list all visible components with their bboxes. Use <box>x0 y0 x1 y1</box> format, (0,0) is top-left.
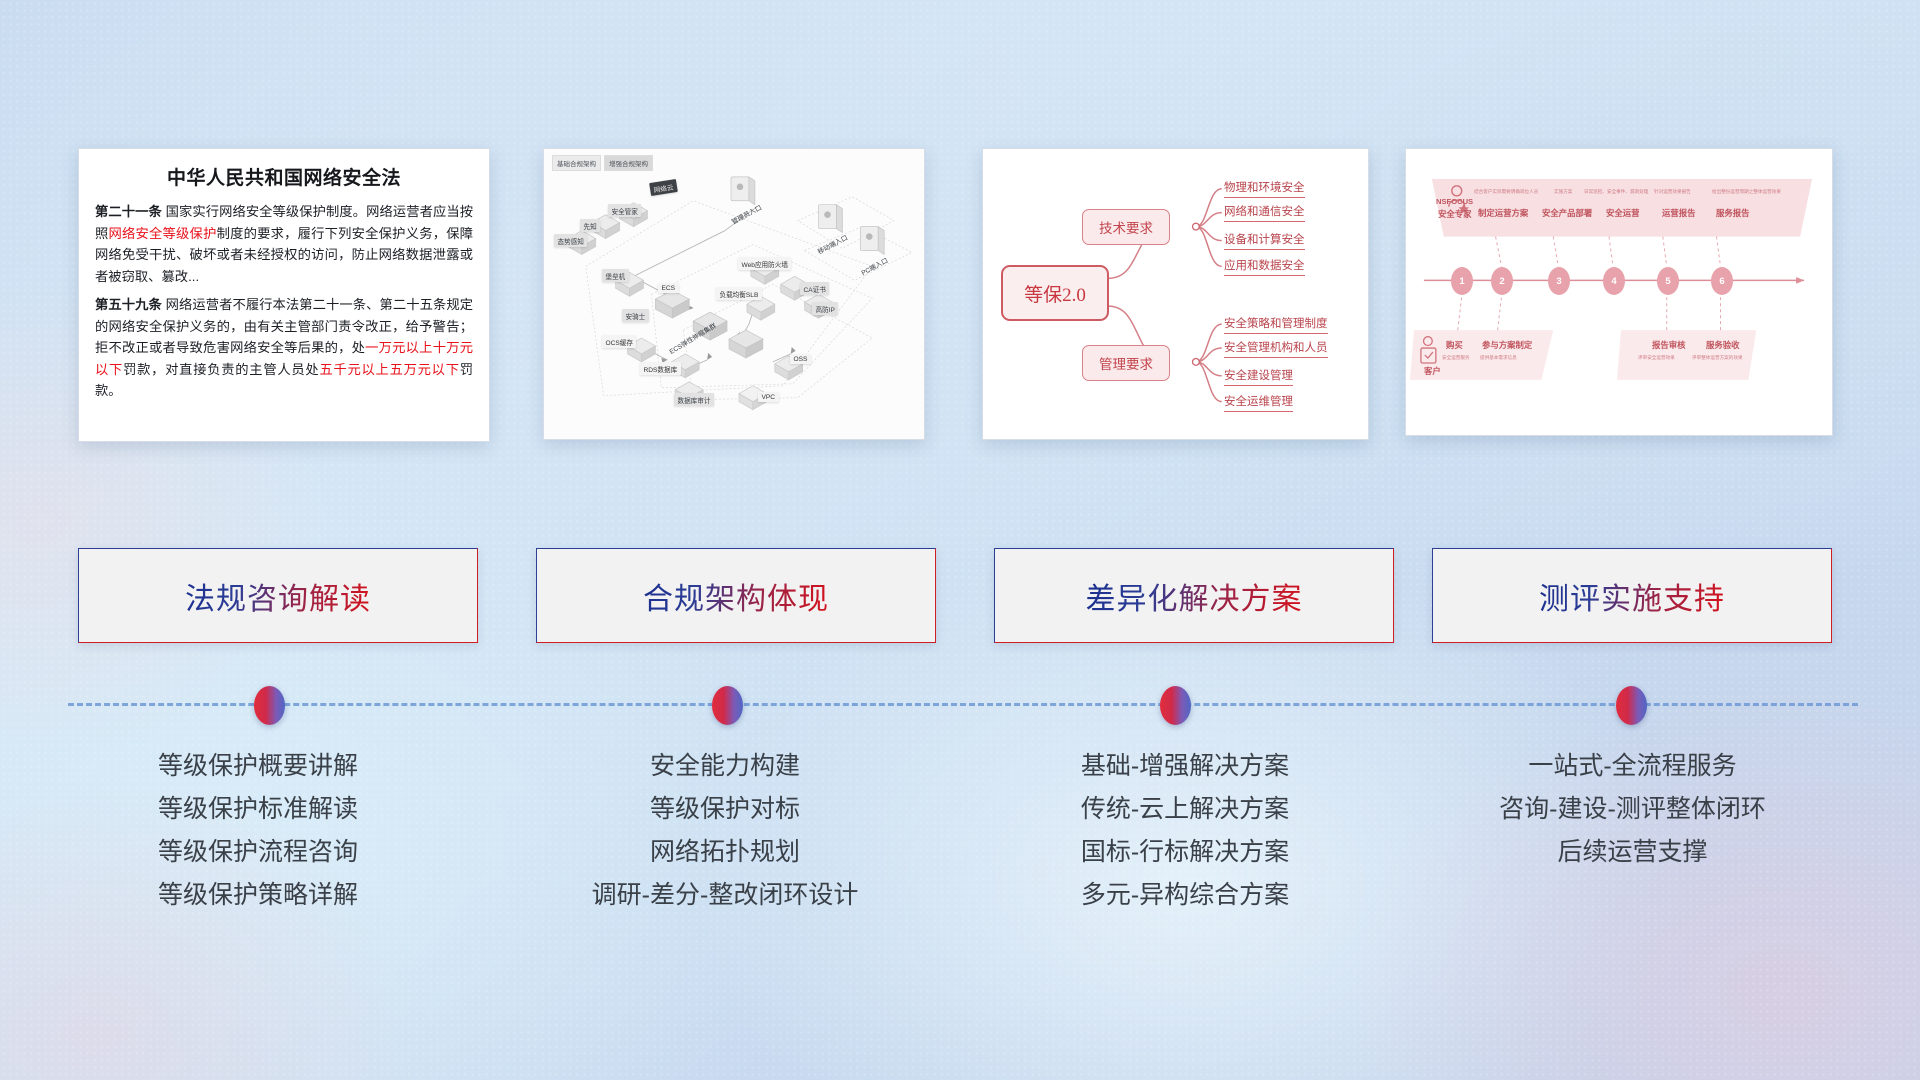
bottom-step-6-note: 评审整体运营方案的效果 <box>1692 355 1743 361</box>
top-step-5-note: 针对运营效果报告 <box>1654 189 1691 195</box>
law-fine-manager: 五千元以上五万元以下 <box>319 362 459 377</box>
list-item: 基础-增强解决方案 <box>980 745 1390 788</box>
bottom-step-2-note: 提供基本需求信息 <box>1480 355 1517 361</box>
timeline-step-number-6: 6 <box>1711 267 1733 295</box>
bottom-step-5-title: 报告审核 <box>1652 339 1686 351</box>
mindmap: 等保2.0 技术要求 管理要求 物理和环境安全 网络和通信安全 设备和计算安全 … <box>983 149 1368 439</box>
list-item: 等级保护策略详解 <box>68 874 448 917</box>
service-list-column-4: 一站式-全流程服务 咨询-建设-测评整体闭环 后续运营支撑 <box>1425 745 1840 874</box>
timeline-dot-1[interactable] <box>254 686 285 725</box>
arch-node-bastion-host: 堡垒机 <box>602 269 629 282</box>
timeline-dot-2[interactable] <box>712 686 743 725</box>
preview-cards-row: 中华人民共和国网络安全法 第二十一条 国家实行网络安全等级保护制度。网络运营者应… <box>0 148 1920 448</box>
list-item: 安全能力构建 <box>525 745 925 788</box>
bottom-step-1-title: 购买 <box>1446 339 1463 351</box>
arch-node-waf: Web应用防火墙 <box>738 257 791 270</box>
timeline-step-number-5: 5 <box>1657 267 1679 295</box>
timeline-dot-3[interactable] <box>1160 686 1191 725</box>
law-article-59-text-b: 罚款，对直接负责的主管人员处 <box>123 362 319 377</box>
law-article-21: 第二十一条 国家实行网络安全等级保护制度。网络运营者应当按照网络安全等级保护制度… <box>95 201 473 287</box>
arch-node-slb: 负载均衡SLB <box>716 287 762 300</box>
card-service-timeline[interactable]: NSFOCUS 安全专家 结合客户实际需要明确岗位人员 制定运营方案 实施方案 … <box>1405 148 1833 436</box>
timeline-dashed-line <box>68 703 1858 706</box>
arch-node-anti-ddos-ip: 高防IP <box>812 302 838 315</box>
law-article-21-highlight: 网络安全等级保护 <box>109 226 217 241</box>
mindmap-leaf-construction-mgmt: 安全建设管理 <box>1224 367 1293 386</box>
arch-node-ca-certificate: CA证书 <box>800 282 829 295</box>
header-assessment-support[interactable]: 测评实施支持 <box>1432 548 1832 643</box>
card-compliance-architecture[interactable]: 基础合规架构 增强合规架构 <box>543 148 925 440</box>
bottom-step-1-note: 安全运营服务 <box>1442 355 1470 361</box>
mindmap-leaf-org-personnel: 安全管理机构和人员 <box>1224 339 1328 358</box>
service-list-column-3: 基础-增强解决方案 传统-云上解决方案 国标-行标解决方案 多元-异构综合方案 <box>980 745 1390 917</box>
law-article-21-label: 第二十一条 <box>95 204 162 219</box>
timeline-dot-4[interactable] <box>1616 686 1647 725</box>
list-item: 网络拓扑规划 <box>525 831 925 874</box>
service-timeline: NSFOCUS 安全专家 结合客户实际需要明确岗位人员 制定运营方案 实施方案 … <box>1406 149 1832 435</box>
arch-node-anqishi: 安骑士 <box>622 309 649 322</box>
list-item: 后续运营支撑 <box>1425 831 1840 874</box>
list-item: 一站式-全流程服务 <box>1425 745 1840 788</box>
mindmap-leaf-network-comm: 网络和通信安全 <box>1224 203 1305 222</box>
arch-node-ocs-cache: OCS缓存 <box>602 335 636 348</box>
arch-node-xianzhi: 先知 <box>580 219 600 232</box>
mindmap-branch-management: 管理要求 <box>1082 345 1170 381</box>
mindmap-leaf-device-compute: 设备和计算安全 <box>1224 231 1305 250</box>
law-title: 中华人民共和国网络安全法 <box>95 163 473 190</box>
header-label-3: 差异化解决方案 <box>1086 574 1303 618</box>
category-headers-row: 法规咨询解读 合规架构体现 差异化解决方案 测评实施支持 <box>0 548 1920 648</box>
top-step-6-title: 服务报告 <box>1716 207 1750 219</box>
list-item: 咨询-建设-测评整体闭环 <box>1425 788 1840 831</box>
arch-node-oss: OSS <box>790 354 811 364</box>
top-step-6-note: 给出整份运营周期之整体运营效果 <box>1712 189 1781 195</box>
bottom-step-2-title: 参与方案制定 <box>1482 339 1532 351</box>
mindmap-leaf-physical-env: 物理和环境安全 <box>1224 179 1305 198</box>
service-list-column-2: 安全能力构建 等级保护对标 网络拓扑规划 调研-差分-整改闭环设计 <box>525 745 925 917</box>
header-label-4: 测评实施支持 <box>1539 574 1725 618</box>
list-item: 多元-异构综合方案 <box>980 874 1390 917</box>
timeline-step-number-3: 3 <box>1548 267 1570 295</box>
timeline-step-number-2: 2 <box>1491 267 1513 295</box>
law-article-59: 第五十九条 网络运营者不履行本法第二十一条、第二十五条规定的网络安全保护义务的，… <box>95 294 473 402</box>
header-label-2: 合规架构体现 <box>643 574 829 618</box>
list-item: 等级保护流程咨询 <box>68 831 448 874</box>
architecture-diagram: 基础合规架构 增强合规架构 <box>544 149 924 439</box>
top-step-3-note: 实施方案 <box>1554 189 1572 195</box>
mindmap-branch-technical: 技术要求 <box>1082 209 1170 245</box>
service-list-column-1: 等级保护概要讲解 等级保护标准解读 等级保护流程咨询 等级保护策略详解 <box>68 745 448 917</box>
bottom-step-6-title: 服务验收 <box>1706 339 1740 351</box>
arch-node-ecs: ECS <box>658 283 679 293</box>
mindmap-leaf-app-data: 应用和数据安全 <box>1224 257 1305 276</box>
mindmap-root: 等保2.0 <box>1001 265 1109 321</box>
arch-node-rds-database: RDS数据库 <box>640 362 681 375</box>
expert-role-label: 安全专家 <box>1438 208 1472 220</box>
timeline-step-number-4: 4 <box>1603 267 1625 295</box>
top-step-5-title: 运营报告 <box>1662 207 1696 219</box>
card-dengbao-mindmap[interactable]: 等保2.0 技术要求 管理要求 物理和环境安全 网络和通信安全 设备和计算安全 … <box>982 148 1369 440</box>
list-item: 国标-行标解决方案 <box>980 831 1390 874</box>
timeline-step-number-1: 1 <box>1451 267 1473 295</box>
law-document: 中华人民共和国网络安全法 第二十一条 国家实行网络安全等级保护制度。网络运营者应… <box>79 149 489 417</box>
customer-role-label: 客户 <box>1424 365 1441 377</box>
list-item: 传统-云上解决方案 <box>980 788 1390 831</box>
list-item: 等级保护标准解读 <box>68 788 448 831</box>
top-step-2-note: 结合客户实际需要明确岗位人员 <box>1474 189 1538 195</box>
list-item: 调研-差分-整改闭环设计 <box>525 874 925 917</box>
top-step-4-title: 安全运营 <box>1606 207 1640 219</box>
header-compliance-architecture[interactable]: 合规架构体现 <box>536 548 936 643</box>
mindmap-leaf-ops-mgmt: 安全运维管理 <box>1224 393 1293 412</box>
arch-node-security-butler: 安全管家 <box>608 204 641 217</box>
top-step-3-title: 安全产品部署 <box>1542 207 1592 219</box>
list-item: 等级保护对标 <box>525 788 925 831</box>
header-differentiated-solution[interactable]: 差异化解决方案 <box>994 548 1394 643</box>
arch-node-database-audit: 数据库审计 <box>674 393 714 406</box>
card-cybersecurity-law[interactable]: 中华人民共和国网络安全法 第二十一条 国家实行网络安全等级保护制度。网络运营者应… <box>78 148 490 442</box>
expert-brand-label: NSFOCUS <box>1436 197 1473 206</box>
mindmap-leaf-policy-system: 安全策略和管理制度 <box>1224 315 1328 334</box>
arch-node-vpc: VPC <box>758 392 779 402</box>
bottom-step-5-note: 评审安全运营效果 <box>1638 355 1675 361</box>
header-regulation-consulting[interactable]: 法规咨询解读 <box>78 548 478 643</box>
top-step-2-title: 制定运营方案 <box>1478 207 1528 219</box>
header-label-1: 法规咨询解读 <box>185 574 371 618</box>
list-item: 等级保护概要讲解 <box>68 745 448 788</box>
top-step-4-note: 日常巡检、安全事件、漏洞处理 <box>1584 189 1648 195</box>
law-article-59-label: 第五十九条 <box>95 297 162 312</box>
arch-node-situational-awareness: 态势感知 <box>554 234 587 247</box>
